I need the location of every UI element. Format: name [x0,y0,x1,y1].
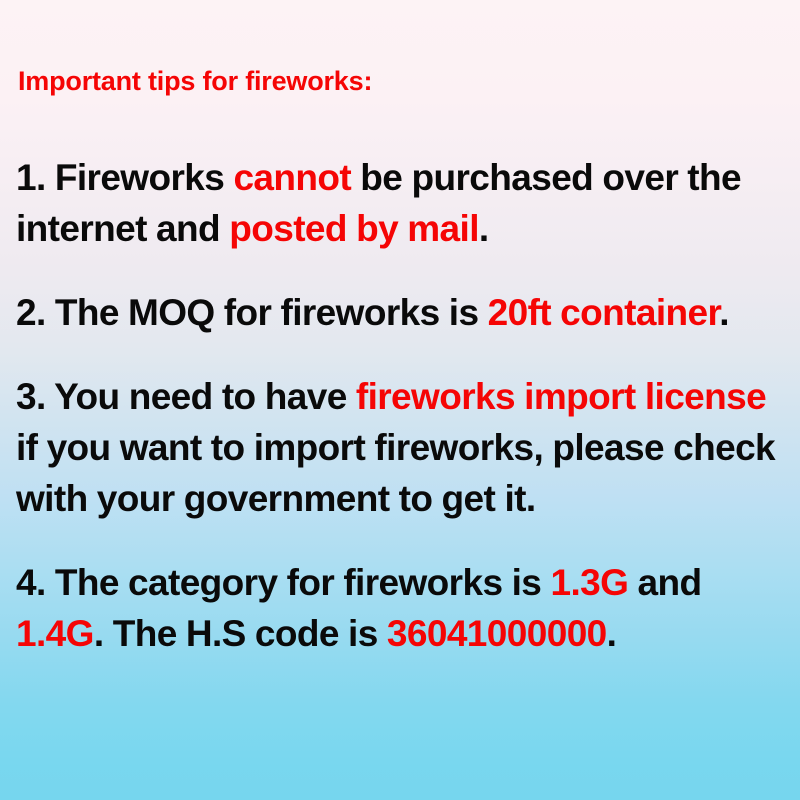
tip-item-1: 1. Fireworks cannot be purchased over th… [16,152,784,254]
tip-segment: if you want to import fireworks, please … [16,427,775,519]
tip-segment-highlight: 1.4G [16,613,94,654]
tip-segment: You need to have [46,376,356,417]
tip-segment-highlight: posted by mail [229,208,479,249]
tip-segment-highlight: 20ft container [488,292,720,333]
tip-segment: . [479,208,489,249]
tip-item-2: 2. The MOQ for fireworks is 20ft contain… [16,287,784,338]
tip-segment: . The H.S code is [94,613,387,654]
tip-segment: . [719,292,729,333]
tip-item-3: 3. You need to have fireworks import lic… [16,371,784,524]
tip-number: 4. [16,562,46,603]
tip-segment: . [607,613,617,654]
tip-item-4: 4. The category for fireworks is 1.3G an… [16,557,784,659]
page-title: Important tips for fireworks: [18,66,372,97]
tip-number: 2. [16,292,46,333]
tip-number: 3. [16,376,46,417]
tip-segment-highlight: cannot [233,157,351,198]
tip-segment-highlight: fireworks import license [356,376,766,417]
tip-segment: and [628,562,701,603]
tip-segment-highlight: 36041000000 [387,613,607,654]
tips-list: 1. Fireworks cannot be purchased over th… [16,152,784,659]
tip-segment: The MOQ for fireworks is [46,292,488,333]
tip-segment: The category for fireworks is [46,562,551,603]
fireworks-tips-poster: Important tips for fireworks: 1. Firewor… [0,0,800,800]
tip-segment: Fireworks [46,157,234,198]
tip-number: 1. [16,157,46,198]
tip-segment-highlight: 1.3G [550,562,628,603]
